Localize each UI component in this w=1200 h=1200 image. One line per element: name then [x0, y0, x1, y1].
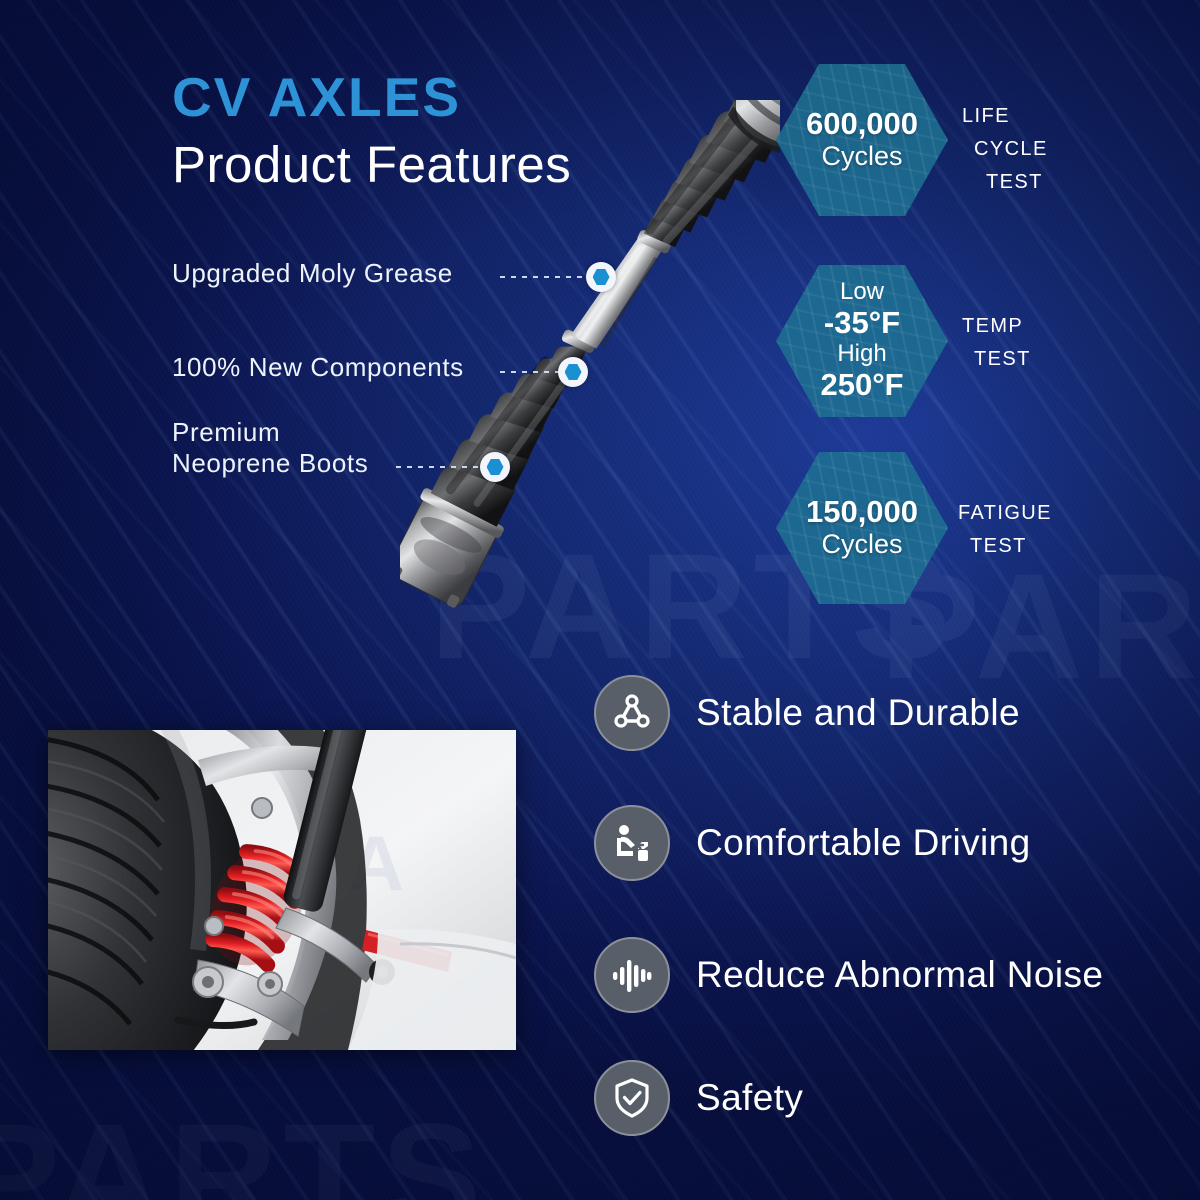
test-label-line: TEMP [962, 310, 1031, 343]
benefit-row-comfortable-driving: Comfortable Driving [594, 805, 1031, 881]
badge-value: 600,000 [806, 108, 918, 141]
test-label-fatigue: FATIGUE TEST [958, 497, 1052, 563]
test-label-line: TEST [962, 343, 1031, 376]
callout-text-line2: Neoprene Boots [172, 448, 368, 479]
badge-unit: Cycles [821, 529, 902, 560]
callout-label-new-components: 100% New Components [172, 352, 464, 383]
benefit-label: Safety [696, 1077, 803, 1119]
test-label-line: LIFE [962, 100, 1048, 133]
callout-marker-hex-icon [480, 452, 510, 482]
sound-waveform-icon [594, 937, 670, 1013]
test-label-line: TEST [962, 166, 1048, 199]
badge-value: 150,000 [806, 496, 918, 529]
seated-person-cushion-icon [594, 805, 670, 881]
callout-label-neoprene-boots: Premium Neoprene Boots [172, 417, 368, 478]
test-label-line: FATIGUE [958, 497, 1052, 530]
test-label-life-cycle: LIFE CYCLE TEST [962, 100, 1048, 199]
callout-text: Upgraded Moly Grease [172, 258, 453, 288]
callout-label-moly-grease: Upgraded Moly Grease [172, 258, 453, 289]
suspension-photo: A [48, 730, 516, 1050]
benefit-row-stable-durable: Stable and Durable [594, 675, 1020, 751]
callout-marker-hex-icon [586, 262, 616, 292]
badge-unit: Cycles [821, 141, 902, 172]
shield-check-icon [594, 1060, 670, 1136]
badge-high-label: High [837, 341, 886, 368]
callout-text-line1: Premium [172, 417, 280, 447]
benefit-label: Stable and Durable [696, 692, 1020, 734]
benefit-row-reduce-noise: Reduce Abnormal Noise [594, 937, 1103, 1013]
badge-high-value: 250°F [820, 368, 903, 403]
test-label-line: CYCLE [962, 133, 1048, 166]
test-label-temperature: TEMP TEST [962, 310, 1031, 376]
callout-connector-line [500, 371, 560, 373]
callout-connector-line [396, 466, 482, 468]
badge-low-value: -35°F [824, 306, 900, 341]
product-feature-poster: PARTS PARTS PARTS CV AXLES Product Featu… [0, 0, 1200, 1200]
callout-marker-hex-icon [558, 357, 588, 387]
callout-connector-line [500, 276, 588, 278]
benefit-label: Reduce Abnormal Noise [696, 954, 1103, 996]
test-label-line: TEST [958, 530, 1052, 563]
benefit-label: Comfortable Driving [696, 822, 1031, 864]
callout-text: 100% New Components [172, 352, 464, 382]
triangle-nodes-icon [594, 675, 670, 751]
badge-low-label: Low [840, 279, 884, 306]
benefit-row-safety: Safety [594, 1060, 803, 1136]
